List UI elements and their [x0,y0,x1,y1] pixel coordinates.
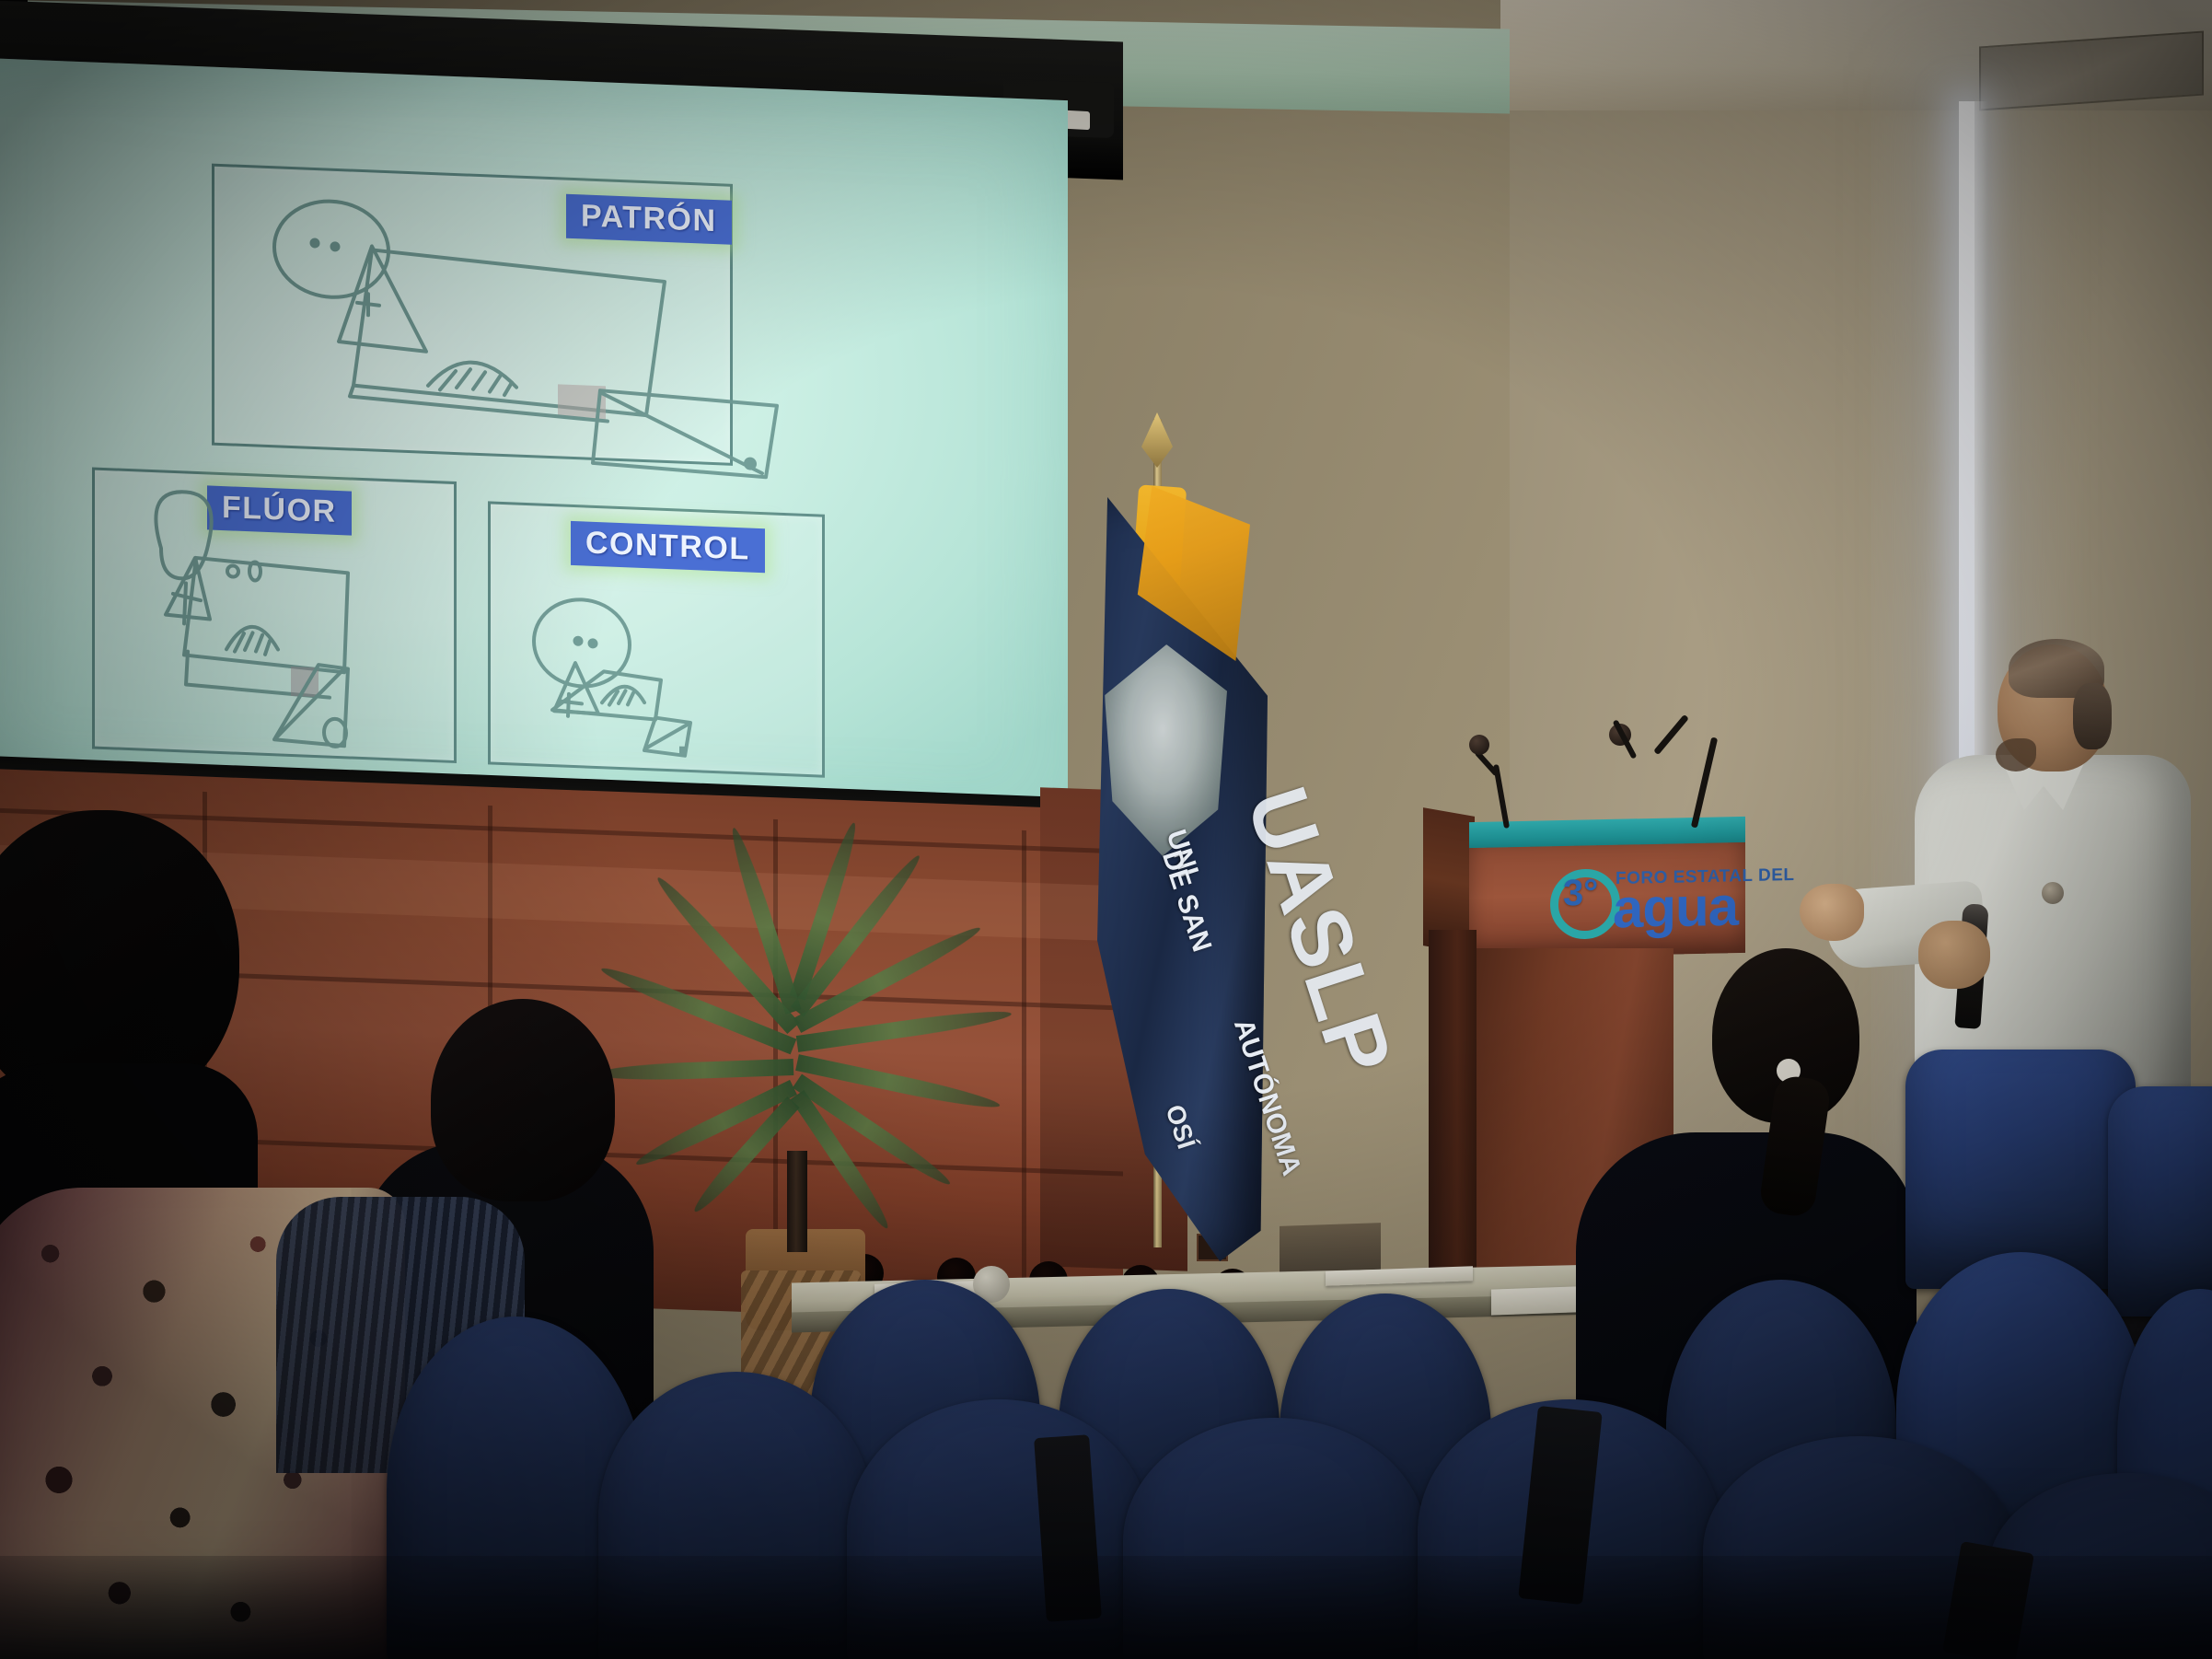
presenter-lapel-badge [2042,882,2064,904]
podium-mic-left-head-icon [1469,735,1489,755]
slide-label-fluor: FLÚOR [207,485,352,535]
slide-label-control: CONTROL [571,521,765,573]
presenter-moustache [1996,738,2036,771]
slide-content: PATRÓN FLÚOR CONTROL [0,57,1068,837]
slide-label-patron: PATRÓN [566,194,732,245]
podium-logo-number: 3° [1563,875,1598,912]
plant-trunk [787,1151,807,1252]
presenter-hand-left [1800,884,1864,941]
conference-room-photo: PATRÓN FLÚOR CONTROL [0,0,2212,1659]
presenter-hand-right [1918,921,1990,989]
podium-column-side [1429,930,1477,1298]
foreground-shadow [0,1556,2212,1659]
presenter-hair-side [2073,683,2112,749]
podium-title-line2: agua [1613,879,1738,937]
chair [2108,1086,2212,1317]
